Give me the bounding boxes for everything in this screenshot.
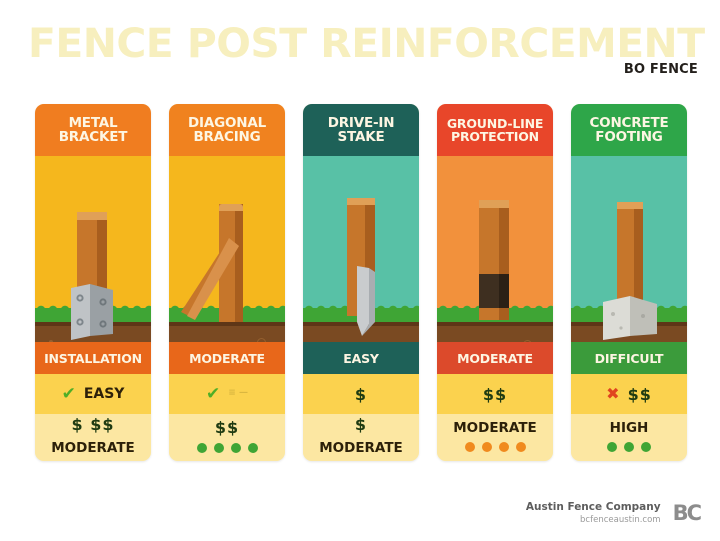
bc-logo: BC: [673, 501, 700, 525]
difficulty-band: DIFFICULT: [571, 342, 687, 374]
cost-line-1: $$: [215, 418, 239, 437]
company-url[interactable]: bcfenceaustin.com: [526, 515, 661, 525]
cost-line-1: $ $$: [72, 415, 115, 434]
soil: [437, 322, 553, 342]
effort-band: ✔ EASY: [35, 374, 151, 414]
cost-band: $$: [169, 414, 285, 461]
effort-text: $$: [628, 385, 652, 404]
metal-bracket-icon: [67, 284, 117, 342]
concrete-footing-icon: [597, 296, 663, 342]
card-illustration: [571, 156, 687, 342]
card-drive-in-stake[interactable]: DRIVE-IN STAKE EASY: [303, 104, 419, 461]
footer: Austin Fence Company bcfenceaustin.com B…: [526, 501, 700, 525]
cost-line-1: $: [355, 415, 367, 434]
difficulty-band: MODERATE: [169, 342, 285, 374]
cost-band: HIGH: [571, 414, 687, 461]
check-icon: ✔: [62, 386, 76, 403]
rating-dots: [465, 442, 526, 452]
cost-band: $ MODERATE: [303, 414, 419, 461]
effort-ghost-text: ≡ —: [228, 387, 248, 401]
card-title: GROUND-LINE PROTECTION: [437, 104, 553, 156]
effort-text: EASY: [84, 386, 125, 402]
card-title: DIAGONAL BRACING: [169, 104, 285, 156]
check-icon: ✔: [206, 386, 220, 403]
card-illustration: [437, 156, 553, 342]
page-title: FENCE POST REINFORCEMENT: [28, 21, 705, 67]
card-concrete-footing[interactable]: CONCRETE FOOTING: [571, 104, 687, 461]
footer-text: Austin Fence Company bcfenceaustin.com: [526, 501, 661, 525]
cards-row: METAL BRACKET: [35, 104, 689, 461]
card-title: CONCRETE FOOTING: [571, 104, 687, 156]
card-diagonal-bracing[interactable]: DIAGONAL BRACING MOD: [169, 104, 285, 461]
card-illustration: [303, 156, 419, 342]
card-illustration: [169, 156, 285, 342]
effort-band: ✖ $$: [571, 374, 687, 414]
effort-band: ✔ ≡ —: [169, 374, 285, 414]
cost-line-1: MODERATE: [453, 420, 537, 436]
cost-band: MODERATE: [437, 414, 553, 461]
company-name: Austin Fence Company: [526, 501, 661, 513]
card-title: DRIVE-IN STAKE: [303, 104, 419, 156]
cost-line-2: MODERATE: [51, 440, 135, 456]
drive-in-stake-icon: [353, 266, 379, 338]
diagonal-brace-icon: [177, 236, 247, 326]
card-metal-bracket[interactable]: METAL BRACKET: [35, 104, 151, 461]
cost-line-2: MODERATE: [319, 440, 403, 456]
cost-line-1: HIGH: [610, 420, 649, 436]
cost-band: $ $$ MODERATE: [35, 414, 151, 461]
difficulty-band: MODERATE: [437, 342, 553, 374]
effort-band: $$: [437, 374, 553, 414]
effort-band: $: [303, 374, 419, 414]
cross-icon: ✖: [606, 386, 619, 402]
infographic-page: FENCE POST REINFORCEMENT BO FENCE METAL …: [0, 0, 720, 541]
card-title: METAL BRACKET: [35, 104, 151, 156]
rating-dots: [607, 442, 651, 452]
effort-text: $$: [483, 385, 507, 404]
difficulty-band: INSTALLATION: [35, 342, 151, 374]
ground-line-wrap-icon: [479, 274, 509, 308]
difficulty-band: EASY: [303, 342, 419, 374]
card-ground-line-protection[interactable]: GROUND-LINE PROTECTION MODERATE: [437, 104, 553, 461]
brand-label: BO FENCE: [624, 62, 698, 77]
rating-dots: [197, 443, 258, 453]
card-illustration: [35, 156, 151, 342]
effort-text: $: [355, 385, 367, 404]
